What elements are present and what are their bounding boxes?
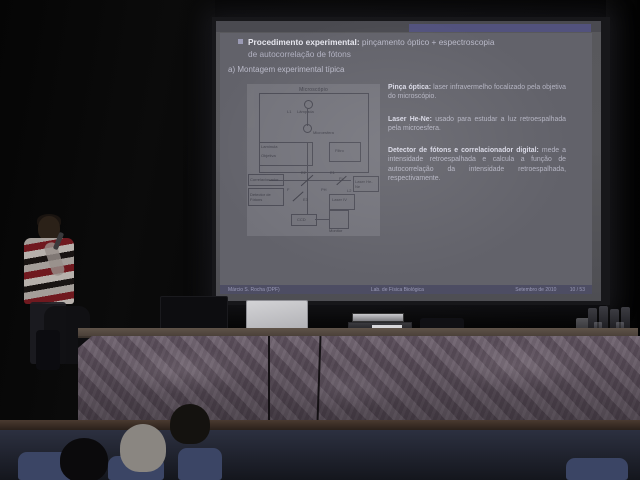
figure-label-correlator: Correlacionador: [250, 177, 278, 182]
bullet-marker-icon: [238, 39, 243, 44]
desk-monitor: [160, 296, 228, 332]
figure-label-bead: Microesfera: [313, 130, 334, 135]
figure-ccd-monitor-link: [315, 219, 329, 220]
figure-filter-box: [329, 142, 361, 162]
stage-chair-leg: [36, 330, 60, 370]
audience-head: [120, 424, 166, 472]
figure-label-laser-iv: Laser IV: [332, 197, 354, 202]
slide-footer: Márcio S. Rocha (DPF) Lab. de Física Bio…: [220, 285, 592, 294]
photo-scene: Procedimento experimental: pinçamento óp…: [0, 0, 640, 480]
slide-text-column: Pinça óptica: laser infravermelho focali…: [388, 83, 566, 196]
figure-label-e2: E2: [301, 170, 306, 175]
figure-mirror-e3: [293, 191, 304, 201]
audience-head: [170, 404, 210, 444]
paragraph-photon-detector-term: Detector de fótons e correlacionador dig…: [388, 147, 539, 154]
paragraph-hene-laser: Laser He-Ne: usado para estudar a luz re…: [388, 115, 566, 134]
slide-bullet: Procedimento experimental: pinçamento óp…: [238, 37, 568, 60]
figure-label-lamp: Lâmpada: [297, 109, 314, 114]
paragraph-optical-tweezers-term: Pinça óptica:: [388, 84, 431, 91]
bullet-strong-text: Procedimento experimental:: [248, 37, 360, 47]
slide-footer-date: Setembro de 2010: [485, 287, 556, 293]
figure-label-e3: E3: [303, 197, 308, 202]
paragraph-hene-laser-term: Laser He-Ne:: [388, 116, 432, 123]
audience-head: [60, 438, 108, 480]
figure-label-objective: Objetiva: [261, 153, 276, 158]
figure-label-e1: E1: [330, 170, 335, 175]
figure-lamp-icon: [304, 100, 313, 109]
audience-seat: [566, 458, 628, 480]
av-receiver-top: [352, 313, 404, 322]
slide-footer-page: 10 / 53: [556, 287, 592, 293]
paragraph-optical-tweezers: Pinça óptica: laser infravermelho focali…: [388, 83, 566, 102]
slide-topbar-accent: [409, 24, 591, 32]
figure-label-l2: L2: [347, 188, 351, 193]
figure-label-coverslip: Lamínula: [261, 144, 277, 149]
paragraph-photon-detector: Detector de fótons e correlacionador dig…: [388, 146, 566, 183]
figure-label-ccd: CCD: [297, 217, 306, 222]
figure-label-filter: Filtro: [335, 148, 344, 153]
figure-label-laser-hene: Laser He-Ne: [355, 179, 377, 189]
presentation-slide: Procedimento experimental: pinçamento óp…: [216, 21, 601, 301]
figure-label-detector: Detector de Fótons: [250, 192, 282, 202]
figure-label-monitor: Monitor: [329, 228, 342, 233]
figure-monitor-box: [329, 210, 349, 229]
audience-seat: [178, 448, 222, 480]
power-cable: [268, 336, 270, 422]
slide-topbar: [216, 21, 601, 32]
figure-label-fl: FL: [339, 176, 344, 181]
tablecloth-shading: [78, 336, 640, 422]
bullet-second-line: de autocorrelação de fótons: [248, 49, 568, 61]
slide-footer-venue: Lab. de Física Biológica: [371, 287, 485, 293]
optics-setup-figure: Microscópio L1 Lâmpada Microesfera Lamín…: [247, 84, 380, 236]
bullet-rest-text: pinçamento óptico + espectroscopia: [360, 37, 495, 47]
slide-footer-author: Márcio S. Rocha (DPF): [220, 287, 371, 293]
figure-label-f: F: [287, 187, 289, 192]
figure-microsphere-icon: [303, 124, 312, 133]
figure-label-pinhole: PH: [321, 187, 327, 192]
projection-screen: Procedimento experimental: pinçamento óp…: [216, 21, 601, 301]
figure-label-l1: L1: [287, 109, 291, 114]
slide-subheading: a) Montagem experimental típica: [228, 65, 568, 74]
